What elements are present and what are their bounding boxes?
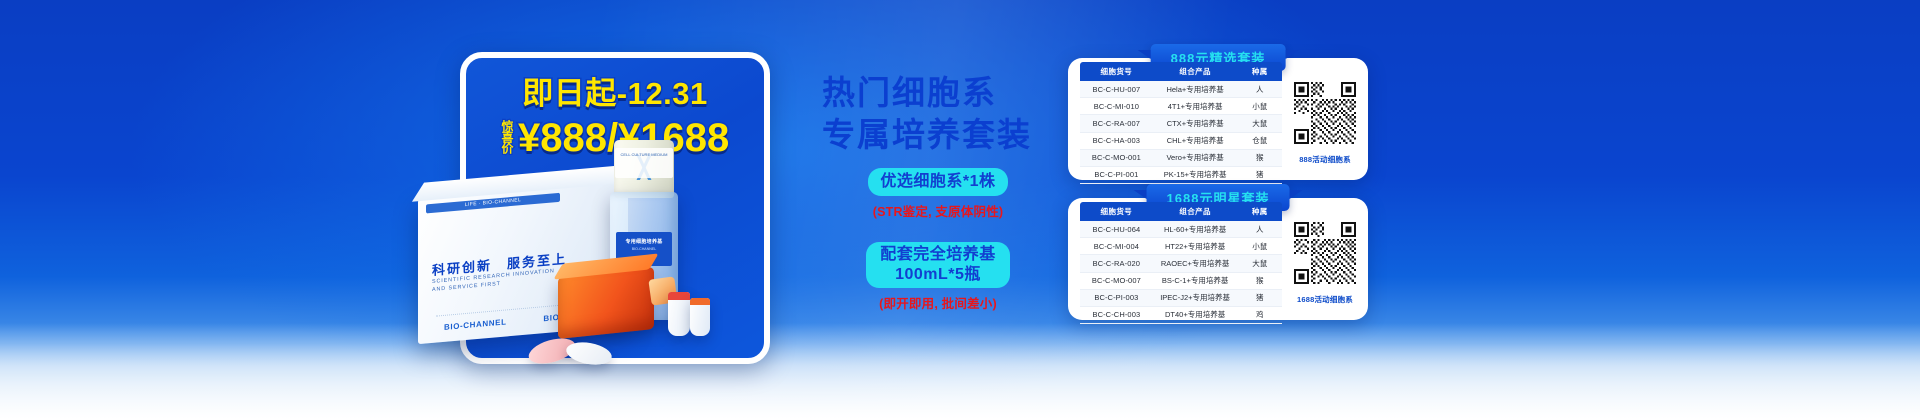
carton-band: LIFE · BIO-CHANNEL xyxy=(426,193,560,214)
col-species: 种属 xyxy=(1238,202,1282,221)
qr-code-icon[interactable] xyxy=(1294,222,1356,284)
cell-code: BC-C-MI-010 xyxy=(1080,98,1153,115)
cell-species: 猪 xyxy=(1238,289,1282,306)
product-tube-orange-cap xyxy=(690,298,710,336)
cell-product: CHL+专用培养基 xyxy=(1153,132,1238,149)
table-row: BC-C-HU-064 HL-60+专用培养基 人 xyxy=(1080,221,1282,238)
cell-code: BC-C-MO-007 xyxy=(1080,272,1153,289)
table-row: BC-C-PI-003 IPEC-J2+专用培养基 猪 xyxy=(1080,289,1282,306)
col-cell-code: 细胞货号 xyxy=(1080,62,1153,81)
feature-2-pill-line1: 配套完全培养基 xyxy=(880,245,996,265)
headline-line-1: 热门细胞系 xyxy=(822,72,1032,114)
bottle-top-label: CELL CULTURE MEDIUM xyxy=(615,148,673,178)
headline: 热门细胞系 专属培养套装 xyxy=(822,72,1032,156)
promo-price-label: 惊喜价 xyxy=(501,120,513,153)
background-floor-gradient xyxy=(0,323,1920,419)
bottle-label-sub: BIO-CHANNEL xyxy=(616,247,672,251)
panel-1688-qr-block: 1688活动细胞系 xyxy=(1292,222,1358,305)
panel-888-qr-caption: 888活动细胞系 xyxy=(1292,154,1358,165)
cell-species: 猴 xyxy=(1238,272,1282,289)
cell-product: IPEC-J2+专用培养基 xyxy=(1153,289,1238,306)
table-row: BC-C-PI-001 PK-15+专用培养基 猪 xyxy=(1080,166,1282,183)
cell-code: BC-C-HA-003 xyxy=(1080,132,1153,149)
cell-code: BC-C-HU-064 xyxy=(1080,221,1153,238)
cell-code: BC-C-MO-001 xyxy=(1080,149,1153,166)
table-header-row: 细胞货号 组合产品 种属 xyxy=(1080,62,1282,81)
col-cell-code: 细胞货号 xyxy=(1080,202,1153,221)
product-culture-flask xyxy=(558,267,654,339)
table-row: BC-C-MO-001 Vero+专用培养基 猴 xyxy=(1080,149,1282,166)
cell-code: BC-C-CH-003 xyxy=(1080,306,1153,323)
feature-1-note: (STR鉴定, 支原体阴性) xyxy=(838,201,1038,220)
cell-code: BC-C-RA-007 xyxy=(1080,115,1153,132)
cell-species: 人 xyxy=(1238,221,1282,238)
cell-product: Vero+专用培养基 xyxy=(1153,149,1238,166)
package-panel-1688: 1688元明星套装 细胞货号 组合产品 种属 BC-C-HU-064 HL-60… xyxy=(1068,198,1368,320)
promo-banner: 即日起-12.31 惊喜价 ¥888/¥1688 LIFE · BIO-CHAN… xyxy=(0,0,1920,419)
panel-888-table: 细胞货号 组合产品 种属 BC-C-HU-007 Hela+专用培养基 人 BC… xyxy=(1080,62,1282,184)
feature-1-pill: 优选细胞系*1株 xyxy=(868,168,1007,196)
cell-species: 小鼠 xyxy=(1238,238,1282,255)
cell-product: RAOEC+专用培养基 xyxy=(1153,255,1238,272)
cell-species: 猪 xyxy=(1238,166,1282,183)
carton-brand-left: BIO-CHANNEL xyxy=(444,317,507,331)
package-panel-888: 888元精选套装 细胞货号 组合产品 种属 BC-C-HU-007 Hela+专… xyxy=(1068,58,1368,180)
cell-species: 大鼠 xyxy=(1238,255,1282,272)
feature-2-pill: 配套完全培养基 100mL*5瓶 xyxy=(866,242,1010,288)
qr-code-icon[interactable] xyxy=(1294,82,1356,144)
cell-code: BC-C-PI-003 xyxy=(1080,289,1153,306)
cell-product: HL-60+专用培养基 xyxy=(1153,221,1238,238)
cell-product: Hela+专用培养基 xyxy=(1153,81,1238,98)
panel-1688-table: 细胞货号 组合产品 种属 BC-C-HU-064 HL-60+专用培养基 人 B… xyxy=(1080,202,1282,324)
table-header-row: 细胞货号 组合产品 种属 xyxy=(1080,202,1282,221)
promo-date-range: 即日起-12.31 xyxy=(480,78,750,111)
cell-code: BC-C-MI-004 xyxy=(1080,238,1153,255)
product-tube-red-cap xyxy=(668,292,690,336)
cell-species: 大鼠 xyxy=(1238,115,1282,132)
cell-product: DT40+专用培养基 xyxy=(1153,306,1238,323)
headline-line-2: 专属培养套装 xyxy=(822,114,1032,156)
cell-species: 鸡 xyxy=(1238,306,1282,323)
table-row: BC-C-MI-010 4T1+专用培养基 小鼠 xyxy=(1080,98,1282,115)
product-stage: 即日起-12.31 惊喜价 ¥888/¥1688 LIFE · BIO-CHAN… xyxy=(400,40,820,370)
cell-species: 仓鼠 xyxy=(1238,132,1282,149)
cell-product: PK-15+专用培养基 xyxy=(1153,166,1238,183)
carton-band-text: LIFE · BIO-CHANNEL xyxy=(426,193,560,214)
feature-2-pill-line2: 100mL*5瓶 xyxy=(880,265,996,285)
cell-product: CTX+专用培养基 xyxy=(1153,115,1238,132)
cell-product: BS-C-1+专用培养基 xyxy=(1153,272,1238,289)
cell-species: 人 xyxy=(1238,81,1282,98)
bottle-label-title: 专用细胞培养基 xyxy=(616,238,672,245)
cell-product: 4T1+专用培养基 xyxy=(1153,98,1238,115)
table-row: BC-C-RA-007 CTX+专用培养基 大鼠 xyxy=(1080,115,1282,132)
feature-2-note: (即开即用, 批间差小) xyxy=(838,293,1038,312)
cell-code: BC-C-HU-007 xyxy=(1080,81,1153,98)
table-row: BC-C-HA-003 CHL+专用培养基 仓鼠 xyxy=(1080,132,1282,149)
table-row: BC-C-MO-007 BS-C-1+专用培养基 猴 xyxy=(1080,272,1282,289)
col-species: 种属 xyxy=(1238,62,1282,81)
col-product: 组合产品 xyxy=(1153,202,1238,221)
cell-species: 小鼠 xyxy=(1238,98,1282,115)
cell-product: HT22+专用培养基 xyxy=(1153,238,1238,255)
cell-code: BC-C-RA-020 xyxy=(1080,255,1153,272)
feature-spacer xyxy=(838,220,1038,242)
cell-code: BC-C-PI-001 xyxy=(1080,166,1153,183)
feature-item-1: 优选细胞系*1株 (STR鉴定, 支原体阴性) xyxy=(838,168,1038,220)
table-row: BC-C-RA-020 RAOEC+专用培养基 大鼠 xyxy=(1080,255,1282,272)
panel-1688-qr-caption: 1688活动细胞系 xyxy=(1292,294,1358,305)
table-row: BC-C-CH-003 DT40+专用培养基 鸡 xyxy=(1080,306,1282,323)
feature-list: 优选细胞系*1株 (STR鉴定, 支原体阴性) 配套完全培养基 100mL*5瓶… xyxy=(838,168,1038,312)
col-product: 组合产品 xyxy=(1153,62,1238,81)
bottle-top-label-text: CELL CULTURE MEDIUM xyxy=(615,152,673,158)
table-row: BC-C-MI-004 HT22+专用培养基 小鼠 xyxy=(1080,238,1282,255)
table-row: BC-C-HU-007 Hela+专用培养基 人 xyxy=(1080,81,1282,98)
cell-species: 猴 xyxy=(1238,149,1282,166)
panel-888-qr-block: 888活动细胞系 xyxy=(1292,82,1358,165)
feature-item-2: 配套完全培养基 100mL*5瓶 (即开即用, 批间差小) xyxy=(838,242,1038,312)
